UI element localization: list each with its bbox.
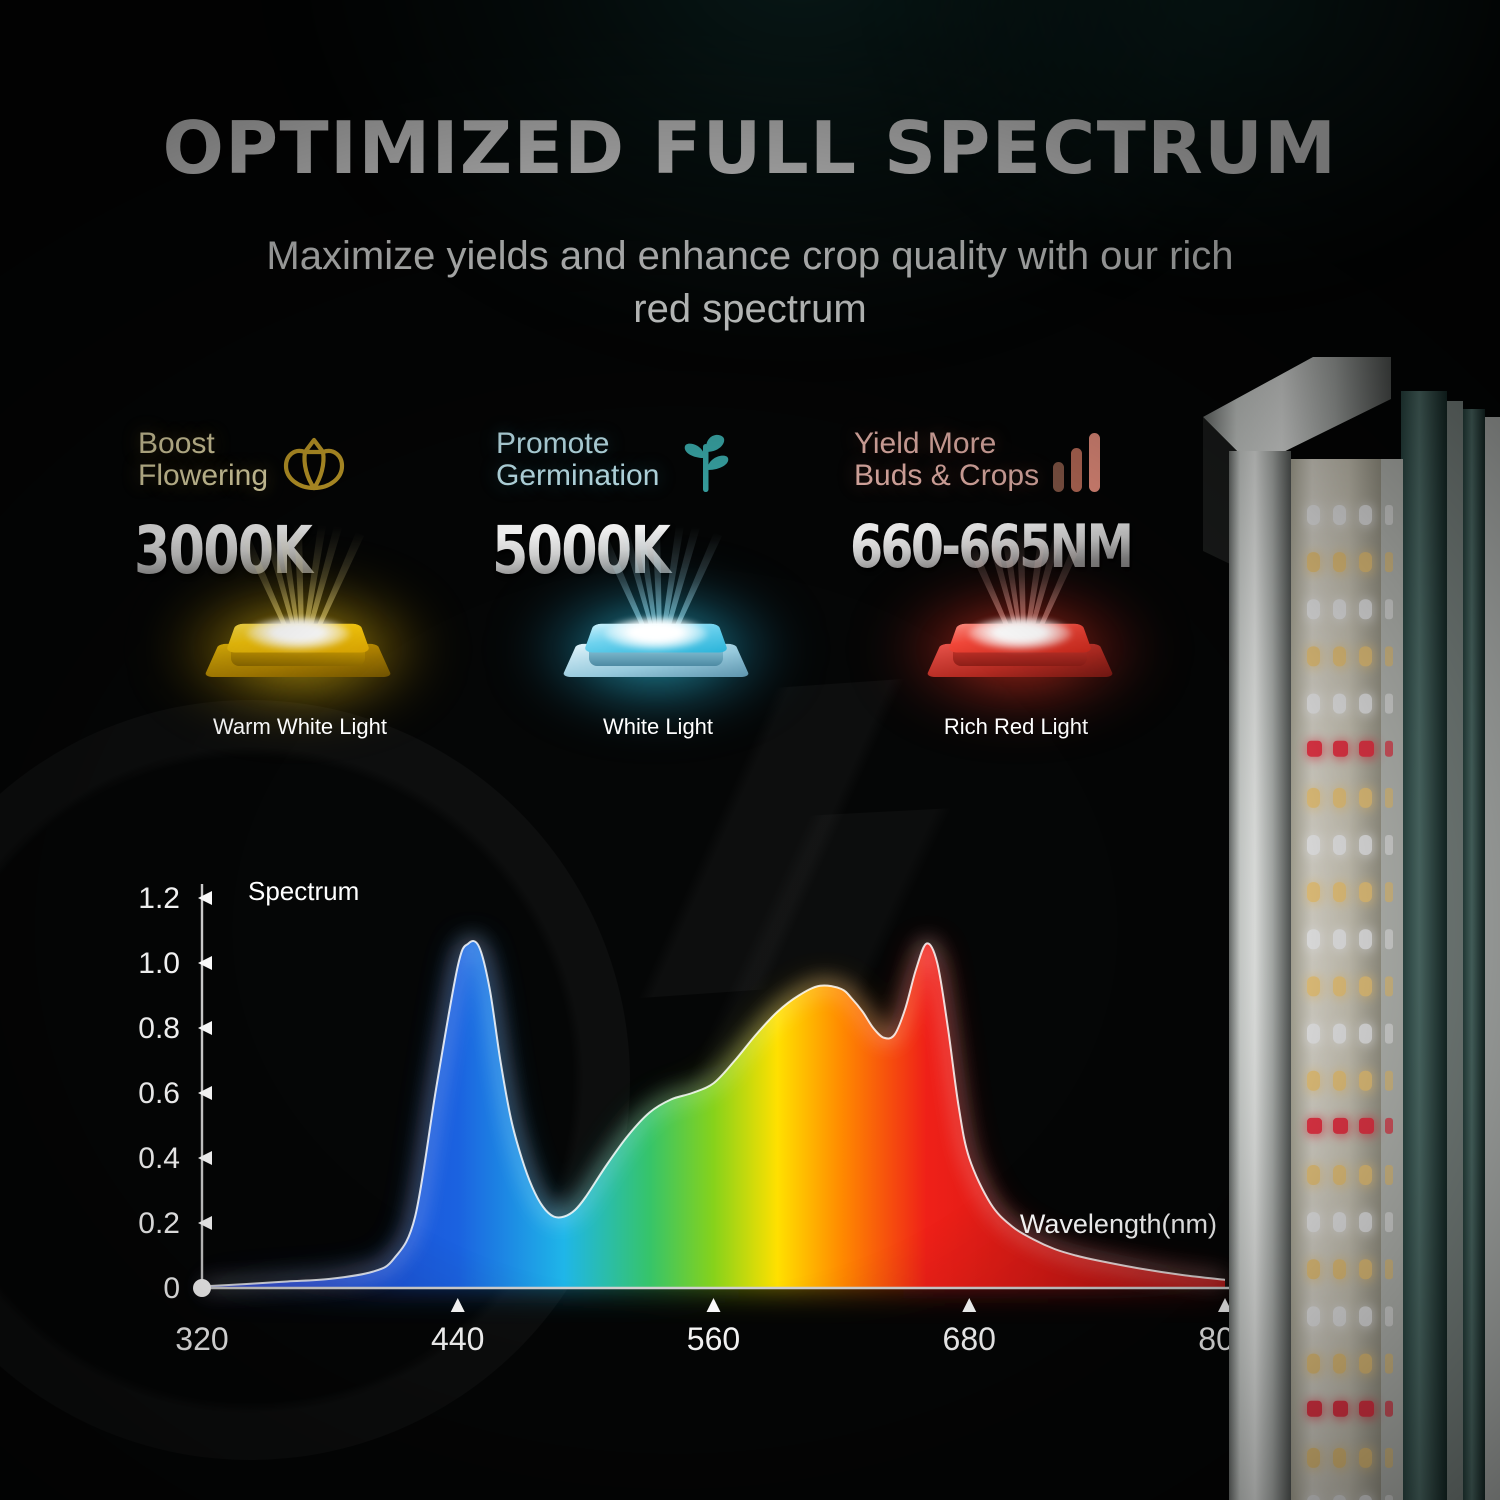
led-warm [1359, 552, 1372, 572]
led-warm [1307, 1448, 1320, 1468]
feature-heading-row: Promote Germination [496, 428, 741, 496]
feature-caption: White Light [478, 714, 838, 740]
led-red [1359, 1401, 1374, 1417]
led-warm [1359, 646, 1372, 666]
led-edge [1385, 1306, 1393, 1326]
led-warm [1333, 976, 1346, 996]
panel-rail-edge [1485, 417, 1500, 1500]
led-red [1333, 1118, 1348, 1134]
feature-heading-row: Yield More Buds & Crops [854, 428, 1111, 492]
y-axis-tick-label: 1.2 [138, 882, 180, 915]
led-warm [1307, 1165, 1320, 1185]
led-edge [1385, 1118, 1393, 1134]
led-white [1333, 505, 1346, 525]
led-warm [1307, 646, 1320, 666]
x-axis-tick [707, 1298, 721, 1312]
y-axis-tick [198, 956, 212, 970]
led-white [1307, 694, 1320, 714]
axis-origin-dot [193, 1279, 211, 1297]
led-edge [1385, 882, 1393, 902]
led-warm [1307, 976, 1320, 996]
y-axis-tick-label: 0.8 [138, 1012, 180, 1045]
led-white [1333, 599, 1346, 619]
led-edge [1385, 1024, 1393, 1044]
feature-yield-more-buds: Yield More Buds & Crops 660-665NM [836, 420, 1196, 760]
chip-emitter [968, 618, 1072, 650]
feature-heading-row: Boost Flowering [138, 428, 350, 496]
led-chip-warm-white [178, 582, 418, 702]
led-edge [1385, 929, 1393, 949]
feature-value: 660-665NM [850, 512, 1149, 582]
led-white [1333, 929, 1346, 949]
led-warm [1307, 788, 1320, 808]
led-red [1359, 741, 1374, 757]
y-axis-tick [198, 1021, 212, 1035]
bar-chart-icon [1049, 430, 1111, 492]
led-warm [1359, 1354, 1372, 1374]
led-red [1307, 1118, 1322, 1134]
led-white [1333, 835, 1346, 855]
flower-icon [278, 430, 350, 496]
led-edge [1385, 788, 1393, 808]
feature-caption: Rich Red Light [836, 714, 1196, 740]
led-warm [1359, 1165, 1372, 1185]
x-axis-tick-label: 320 [175, 1321, 228, 1357]
led-white [1307, 929, 1320, 949]
x-axis-label: Wavelength(nm) [1020, 1209, 1217, 1239]
y-axis-tick [198, 891, 212, 905]
sprout-icon [669, 430, 741, 496]
feature-caption: Warm White Light [120, 714, 480, 740]
y-axis-tick-label: 0.4 [138, 1142, 180, 1175]
led-edge [1385, 1071, 1393, 1091]
x-axis-tick [451, 1298, 465, 1312]
x-axis-tick-label: 680 [943, 1321, 996, 1357]
led-white [1307, 1306, 1320, 1326]
led-warm [1359, 1259, 1372, 1279]
y-axis-tick [198, 1151, 212, 1165]
led-chip-white [536, 582, 776, 702]
led-white [1359, 1212, 1372, 1232]
led-white [1307, 1212, 1320, 1232]
led-warm [1307, 1354, 1320, 1374]
led-edge [1385, 505, 1393, 525]
page-subtitle: Maximize yields and enhance crop quality… [250, 230, 1250, 336]
feature-value: 5000K [492, 512, 791, 589]
led-white [1307, 1024, 1320, 1044]
led-edge [1385, 552, 1393, 572]
led-warm [1307, 1071, 1320, 1091]
led-white [1359, 1306, 1372, 1326]
y-axis-tick [198, 1086, 212, 1100]
led-white [1359, 835, 1372, 855]
feature-heading-label: Promote Germination [496, 428, 659, 492]
led-white [1333, 1306, 1346, 1326]
led-grow-light-panel [1195, 355, 1500, 1500]
led-warm [1333, 552, 1346, 572]
led-warm [1359, 882, 1372, 902]
led-white [1359, 1024, 1372, 1044]
led-edge [1385, 1212, 1393, 1232]
led-white [1307, 599, 1320, 619]
feature-boost-flowering: Boost Flowering 3000K [120, 420, 480, 760]
chip-body [208, 596, 388, 700]
led-warm [1333, 1071, 1346, 1091]
led-edge [1385, 1165, 1393, 1185]
led-warm [1333, 1259, 1346, 1279]
y-axis-label: Spectrum [248, 876, 359, 906]
feature-promote-germination: Promote Germination 5000K [478, 420, 838, 760]
y-axis-tick-label: 0.6 [138, 1077, 180, 1110]
spectrum-infographic: OPTIMIZED FULL SPECTRUM Maximize yields … [0, 0, 1500, 1500]
chip-emitter [604, 618, 708, 650]
led-warm [1359, 1448, 1372, 1468]
led-edge [1385, 646, 1393, 666]
led-edge [1385, 1259, 1393, 1279]
led-warm [1333, 1448, 1346, 1468]
led-white [1359, 929, 1372, 949]
panel-rail-teal [1401, 391, 1447, 1500]
led-white [1307, 835, 1320, 855]
chip-body [930, 596, 1110, 700]
led-edge [1385, 835, 1393, 855]
led-white [1333, 1212, 1346, 1232]
led-red [1307, 1401, 1322, 1417]
led-edge [1385, 1495, 1393, 1500]
led-warm [1333, 788, 1346, 808]
led-warm [1359, 976, 1372, 996]
led-warm [1307, 1259, 1320, 1279]
x-axis-tick-label: 440 [431, 1321, 484, 1357]
led-red [1307, 741, 1322, 757]
led-red [1359, 1118, 1374, 1134]
led-edge [1385, 976, 1393, 996]
y-axis-tick-label: 0 [163, 1272, 180, 1305]
led-edge [1385, 741, 1393, 757]
led-warm [1333, 882, 1346, 902]
led-white [1307, 505, 1320, 525]
led-warm [1359, 788, 1372, 808]
y-axis-tick-label: 0.2 [138, 1207, 180, 1240]
chip-body [566, 596, 746, 700]
led-warm [1333, 1354, 1346, 1374]
panel-housing [1229, 451, 1291, 1500]
page-title: OPTIMIZED FULL SPECTRUM [0, 112, 1500, 184]
led-warm [1307, 882, 1320, 902]
feature-value: 3000K [134, 512, 433, 589]
feature-list: Boost Flowering 3000K [120, 420, 1200, 760]
feature-heading-label: Boost Flowering [138, 428, 268, 492]
y-axis-tick-label: 1.0 [138, 947, 180, 980]
led-edge [1385, 694, 1393, 714]
x-axis-tick [962, 1298, 976, 1312]
feature-heading-label: Yield More Buds & Crops [854, 428, 1039, 492]
led-edge [1385, 599, 1393, 619]
led-warm [1307, 552, 1320, 572]
led-warm [1333, 646, 1346, 666]
led-warm [1333, 1165, 1346, 1185]
led-white [1359, 505, 1372, 525]
y-axis-tick [198, 1216, 212, 1230]
panel-rail-light [1447, 401, 1463, 1500]
led-white [1333, 694, 1346, 714]
led-red [1333, 741, 1348, 757]
led-white [1359, 599, 1372, 619]
panel-rail-teal-2 [1463, 409, 1485, 1500]
chip-emitter [246, 618, 350, 650]
led-edge [1385, 1448, 1393, 1468]
led-warm [1359, 1071, 1372, 1091]
led-edge [1385, 1401, 1393, 1417]
led-white [1333, 1024, 1346, 1044]
x-axis-tick-label: 560 [687, 1321, 740, 1357]
led-edge [1385, 1354, 1393, 1374]
led-red [1333, 1401, 1348, 1417]
led-chip-red [900, 582, 1140, 702]
spectrum-chart: 00.20.40.60.81.01.2320440560680800Spectr… [120, 860, 1260, 1360]
led-white [1359, 694, 1372, 714]
